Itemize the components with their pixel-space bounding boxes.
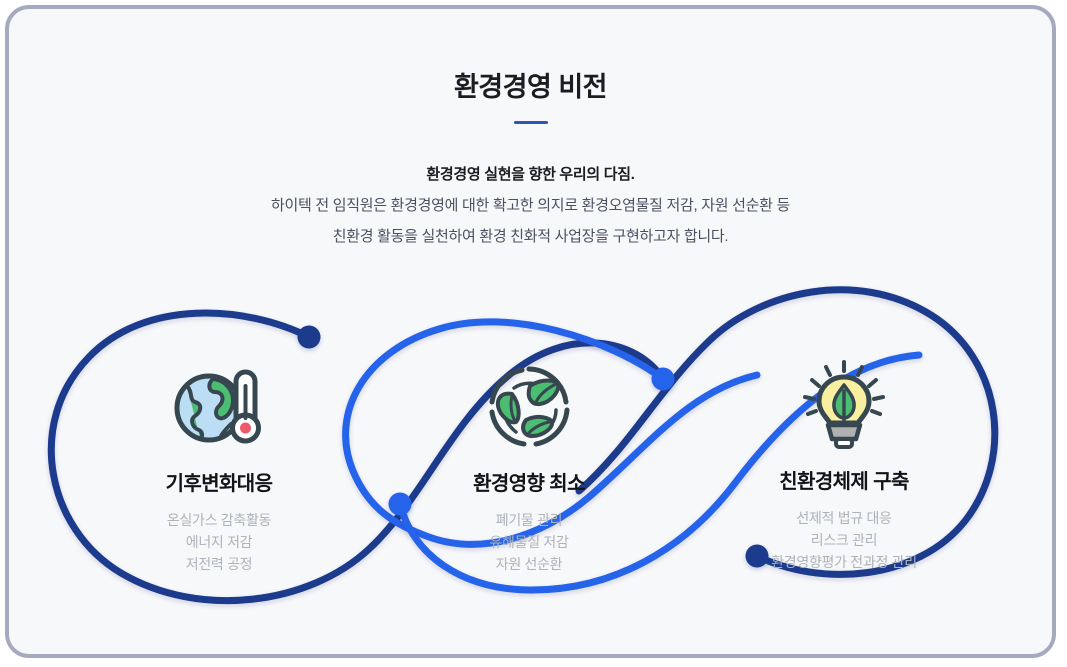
lightbulb-leaf-icon — [719, 357, 969, 453]
card-item: 선제적 법규 대응 — [719, 507, 969, 529]
card-item: 온실가스 감축활동 — [94, 509, 344, 531]
card-item: 유해물질 저감 — [404, 531, 654, 553]
intro-paragraph: 환경경영 실현을 향한 우리의 다짐. 하이텍 전 임직원은 환경경영에 대한 … — [9, 159, 1052, 252]
intro-line-2: 하이텍 전 임직원은 환경경영에 대한 확고한 의지로 환경오염물질 저감, 자… — [9, 190, 1052, 221]
card-item: 저전력 공정 — [94, 553, 344, 575]
card-items: 선제적 법규 대응 리스크 관리 환경영향평가 전과정 관리 — [719, 507, 969, 573]
recycling-leaves-icon — [404, 359, 654, 455]
card-item: 자원 선순환 — [404, 553, 654, 575]
card-item: 리스크 관리 — [719, 529, 969, 551]
vision-card-system[interactable]: 친환경체제 구축 선제적 법규 대응 리스크 관리 환경영향평가 전과정 관리 — [719, 357, 969, 573]
card-items: 온실가스 감축활동 에너지 저감 저전력 공정 — [94, 509, 344, 575]
globe-thermometer-icon — [94, 359, 344, 455]
vision-panel: 환경경영 비전 환경경영 실현을 향한 우리의 다짐. 하이텍 전 임직원은 환… — [5, 5, 1056, 658]
card-items: 폐기물 관리 유해물질 저감 자원 선순환 — [404, 509, 654, 575]
card-title: 기후변화대응 — [94, 467, 344, 496]
card-item: 에너지 저감 — [94, 531, 344, 553]
vision-card-impact[interactable]: 환경영향 최소 폐기물 관리 유해물질 저감 자원 선순환 — [404, 359, 654, 575]
card-item: 폐기물 관리 — [404, 509, 654, 531]
page-title: 환경경영 비전 — [9, 9, 1052, 104]
card-item: 환경영향평가 전과정 관리 — [719, 551, 969, 573]
node-blue-top-middle[interactable] — [652, 368, 675, 391]
card-title: 친환경체제 구축 — [719, 465, 969, 494]
title-underline — [514, 121, 548, 124]
page-header: 환경경영 비전 — [9, 9, 1052, 124]
node-navy-top-left[interactable] — [298, 326, 321, 349]
intro-lead: 환경경영 실현을 향한 우리의 다짐. — [9, 159, 1052, 190]
vision-card-climate[interactable]: 기후변화대응 온실가스 감축활동 에너지 저감 저전력 공정 — [94, 359, 344, 575]
card-title: 환경영향 최소 — [404, 467, 654, 496]
intro-line-3: 친환경 활동을 실천하여 환경 친화적 사업장을 구현하고자 합니다. — [9, 221, 1052, 252]
